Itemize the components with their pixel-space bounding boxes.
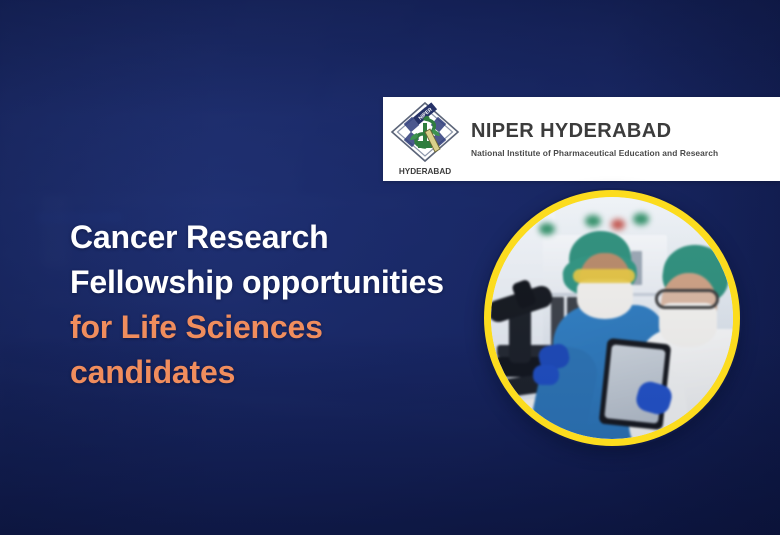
circular-photo-frame [484,190,740,446]
headline-line-1: Cancer Research [70,215,490,260]
logo-card: NIPER HYDERABAD NIPER HYDERABAD Natio [383,97,780,181]
headline-line-3: for Life Sciences [70,305,490,350]
banner-root: NIPER HYDERABAD NIPER HYDERABAD Natio [0,0,780,535]
headline-line-4: candidates [70,350,490,395]
headline-line-2: Fellowship opportunities [70,260,490,305]
lab-scientists-photo [491,197,733,439]
logo-subtitle: National Institute of Pharmaceutical Edu… [471,148,718,158]
logo-text-block: NIPER HYDERABAD National Institute of Ph… [467,121,718,158]
headline-block: Cancer Research Fellowship opportunities… [70,215,490,395]
logo-title: NIPER HYDERABAD [471,121,718,142]
svg-text:HYDERABAD: HYDERABAD [399,167,451,176]
photo-tint [491,197,733,439]
niper-emblem-icon: NIPER HYDERABAD [383,97,467,181]
